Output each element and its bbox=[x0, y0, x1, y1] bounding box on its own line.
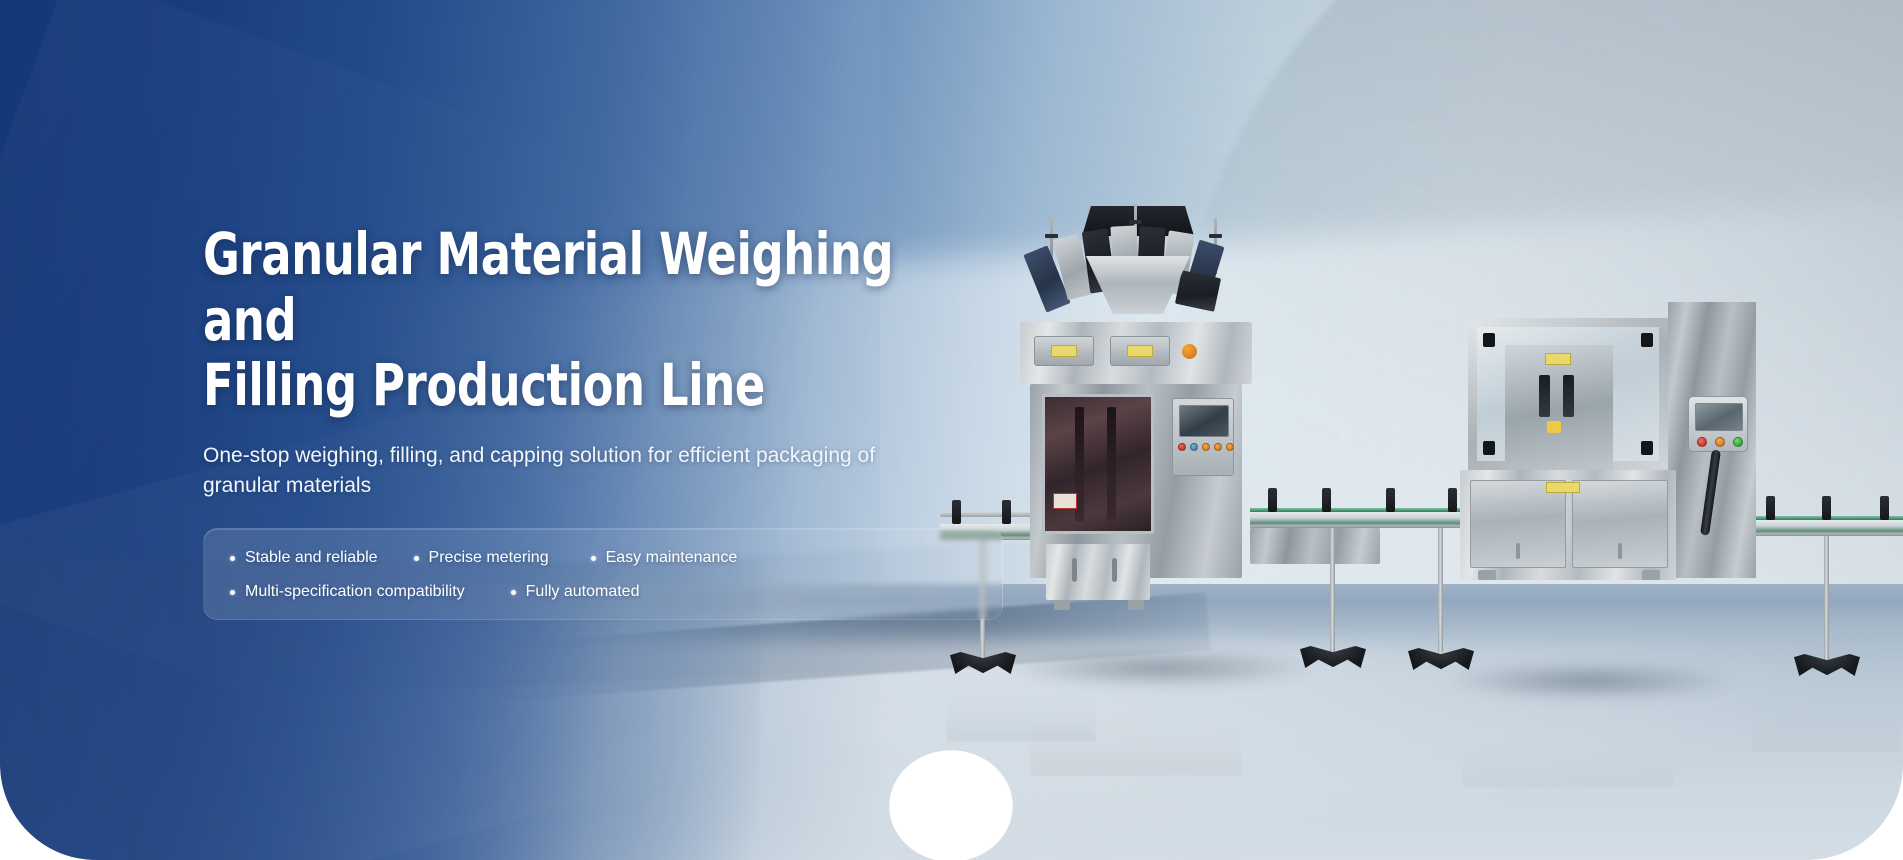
capper-cabinet-door[interactable] bbox=[1572, 480, 1668, 568]
hmi-button-orange[interactable] bbox=[1202, 443, 1210, 451]
machine-foot bbox=[1128, 600, 1144, 610]
weigher-lower-cabinet bbox=[1046, 544, 1150, 600]
conveyor-guard-post bbox=[1268, 488, 1277, 512]
hero-clip-region: Granular Material Weighing and Filling P… bbox=[0, 0, 1903, 860]
warning-label bbox=[1051, 345, 1077, 357]
frame-clamp bbox=[1483, 333, 1495, 347]
capper-turret bbox=[1505, 345, 1613, 471]
weigher-access-hatch bbox=[1110, 336, 1170, 366]
cabinet-handle[interactable] bbox=[1618, 543, 1622, 559]
capper-button-orange[interactable] bbox=[1715, 437, 1725, 447]
feature-item-multi-specification-compatibility: Multi-specification compatibility bbox=[230, 583, 465, 601]
conveyor-drive-housing bbox=[1250, 528, 1380, 564]
capping-spindle bbox=[1563, 375, 1574, 417]
page-title: Granular Material Weighing and Filling P… bbox=[203, 222, 925, 419]
hero-subtitle: One-stop weighing, filling, and capping … bbox=[203, 441, 903, 501]
cabinet-handle bbox=[1072, 558, 1077, 582]
frame-clamp bbox=[1483, 441, 1495, 455]
hmi-button-orange[interactable] bbox=[1214, 443, 1222, 451]
hero-copy-block: Granular Material Weighing and Filling P… bbox=[203, 222, 1043, 501]
conveyor-guard-post bbox=[1766, 496, 1775, 520]
feature-label: Stable and reliable bbox=[245, 549, 378, 567]
capper-floor-reflection bbox=[1462, 676, 1674, 788]
conveyor-leg bbox=[1330, 528, 1335, 652]
conveyor-guard-post bbox=[1002, 500, 1011, 524]
bullet-dot-icon bbox=[511, 590, 516, 595]
emergency-stop-knob[interactable] bbox=[1182, 344, 1197, 359]
window-divider bbox=[1107, 407, 1116, 521]
feature-label: Fully automated bbox=[526, 583, 640, 601]
capper-guard-frame bbox=[1468, 318, 1668, 470]
filler-control-panel[interactable] bbox=[1172, 398, 1234, 476]
capper-button-red[interactable] bbox=[1697, 437, 1707, 447]
cabinet-handle[interactable] bbox=[1516, 543, 1520, 559]
warning-label bbox=[1546, 482, 1580, 493]
cabinet-handle bbox=[1112, 558, 1117, 582]
feature-row-secondary: Multi-specification compatibility Fully … bbox=[230, 583, 976, 601]
conveyor-guard-post bbox=[952, 500, 961, 524]
hmi-button-orange[interactable] bbox=[1226, 443, 1234, 451]
hmi-button-red[interactable] bbox=[1178, 443, 1186, 451]
conveyor-exit-belt bbox=[1756, 520, 1903, 536]
hmi-button-blue[interactable] bbox=[1190, 443, 1198, 451]
capper-hmi-screen[interactable] bbox=[1695, 403, 1743, 431]
hero-banner: Granular Material Weighing and Filling P… bbox=[0, 0, 1903, 860]
capping-spindle bbox=[1539, 375, 1550, 417]
conveyor-floor-reflection bbox=[946, 662, 1096, 742]
feature-label: Multi-specification compatibility bbox=[245, 583, 465, 601]
conveyor-leg bbox=[1438, 528, 1443, 652]
capping-machine bbox=[1468, 318, 1668, 580]
conveyor-leg bbox=[1824, 536, 1829, 660]
bullet-dot-icon bbox=[230, 556, 235, 561]
exit-conveyor-reflection bbox=[1752, 668, 1902, 752]
machine-foot bbox=[1642, 570, 1660, 580]
feature-highlight-panel: Stable and reliable Precise metering Eas… bbox=[203, 528, 1003, 620]
weigher-filler-machine bbox=[1020, 218, 1252, 578]
feature-label: Easy maintenance bbox=[606, 549, 738, 567]
capper-button-row[interactable] bbox=[1697, 437, 1743, 447]
capper-control-panel[interactable] bbox=[1688, 396, 1748, 452]
bullet-dot-icon bbox=[230, 590, 235, 595]
feature-item-fully-automated: Fully automated bbox=[511, 583, 640, 601]
capper-button-green[interactable] bbox=[1733, 437, 1743, 447]
weigher-upper-housing bbox=[1020, 322, 1252, 384]
conveyor-belt-edge bbox=[1250, 508, 1494, 512]
feature-row-primary: Stable and reliable Precise metering Eas… bbox=[230, 549, 976, 567]
filler-button-row[interactable] bbox=[1178, 443, 1234, 451]
machine-sticker bbox=[1053, 493, 1077, 509]
feature-item-stable-and-reliable: Stable and reliable bbox=[230, 549, 378, 567]
conveyor-mid-belt bbox=[1250, 512, 1494, 528]
weigher-access-hatch bbox=[1034, 336, 1094, 366]
feature-item-easy-maintenance: Easy maintenance bbox=[591, 549, 738, 567]
caution-sticker bbox=[1547, 421, 1561, 433]
frame-clamp bbox=[1641, 441, 1653, 455]
conveyor-guard-post bbox=[1880, 496, 1889, 520]
conveyor-guard-post bbox=[1448, 488, 1457, 512]
feature-item-precise-metering: Precise metering bbox=[414, 549, 549, 567]
conveyor-guard-post bbox=[1322, 488, 1331, 512]
weigher-view-window bbox=[1042, 394, 1154, 534]
machine-foot bbox=[1478, 570, 1496, 580]
capper-base-cabinet bbox=[1460, 470, 1676, 580]
filler-hmi-screen[interactable] bbox=[1179, 405, 1229, 437]
bullet-dot-icon bbox=[414, 556, 419, 561]
warning-label bbox=[1545, 353, 1571, 365]
capper-cabinet-door[interactable] bbox=[1470, 480, 1566, 568]
warning-label bbox=[1127, 345, 1153, 357]
bullet-dot-icon bbox=[591, 556, 596, 561]
conveyor-guard-post bbox=[1822, 496, 1831, 520]
machine-foot bbox=[1054, 600, 1070, 610]
feature-label: Precise metering bbox=[429, 549, 549, 567]
frame-clamp bbox=[1641, 333, 1653, 347]
conveyor-guard-post bbox=[1386, 488, 1395, 512]
